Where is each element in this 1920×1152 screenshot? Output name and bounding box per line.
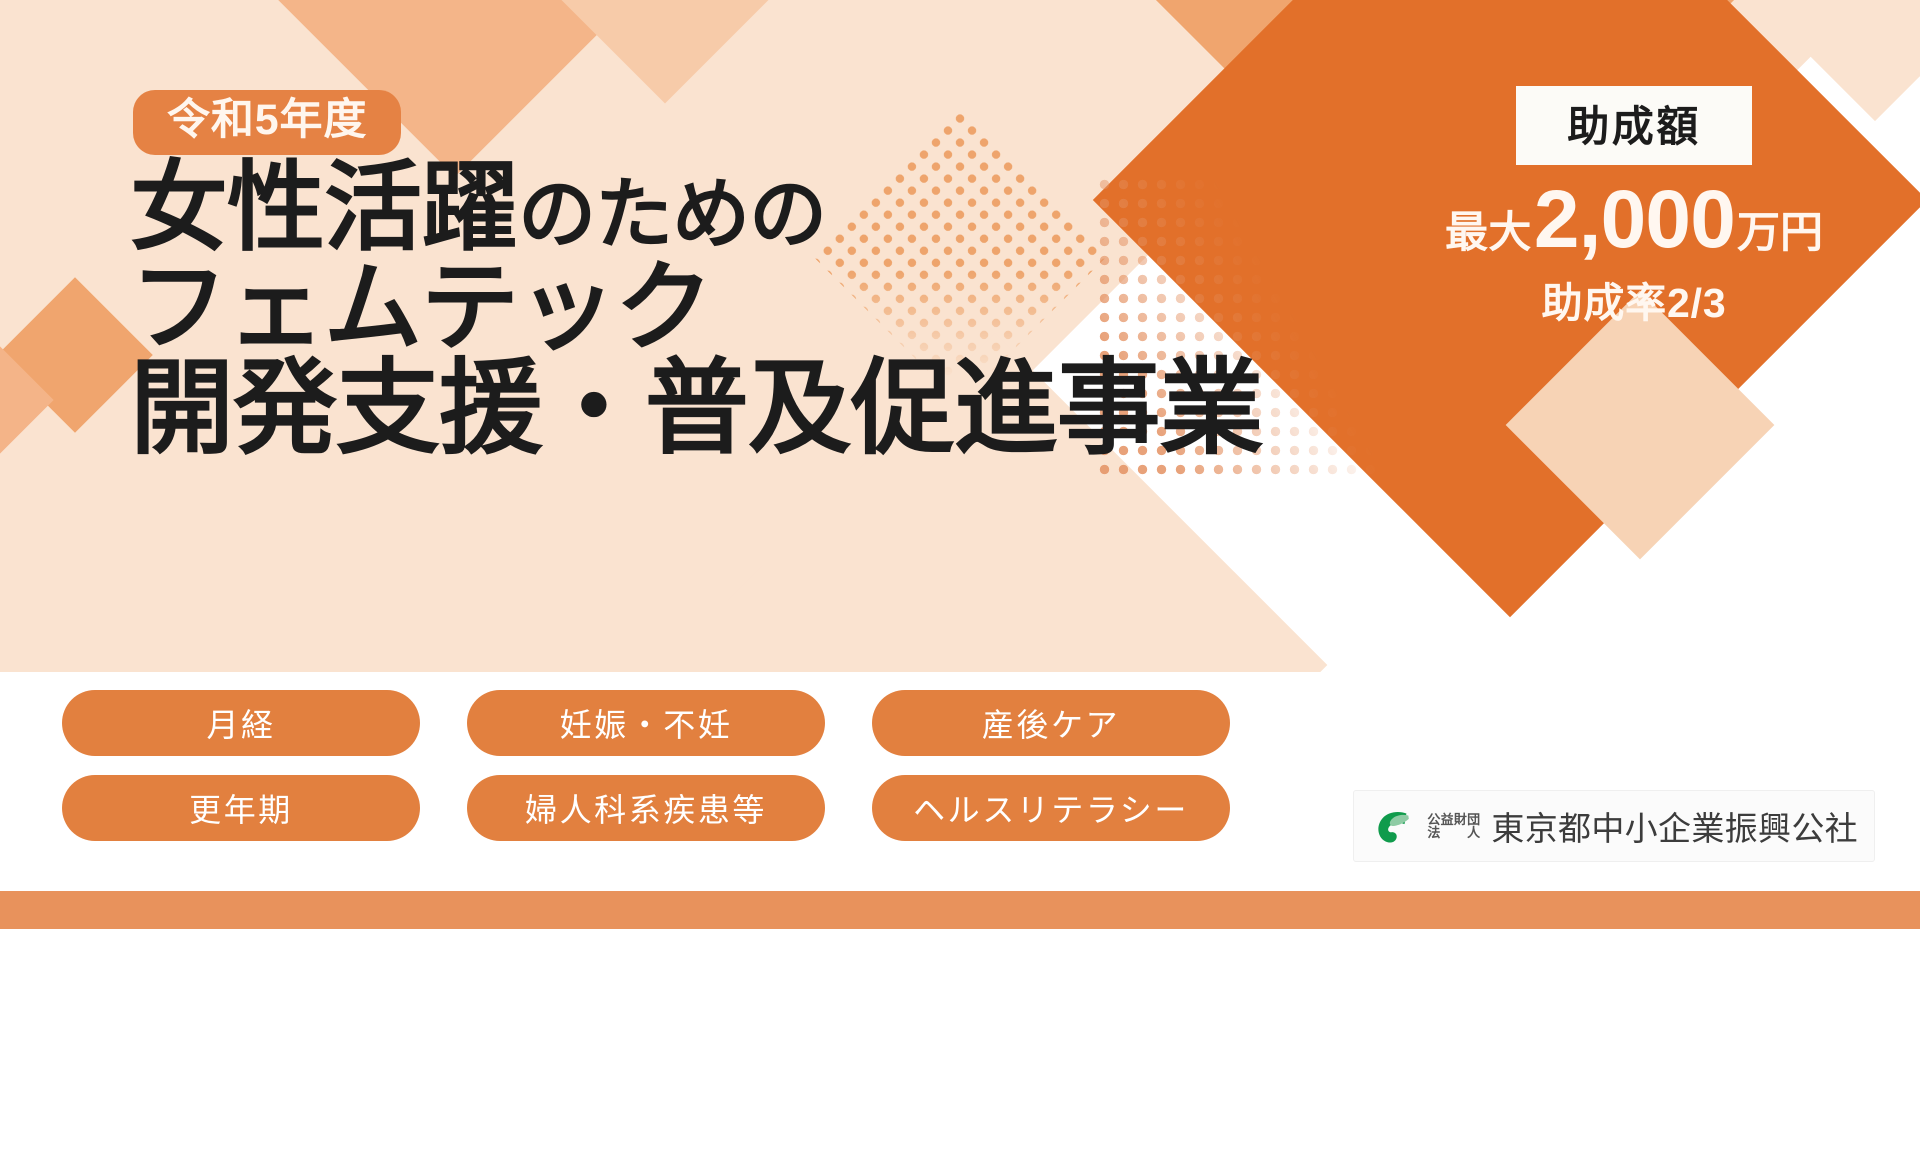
category-pill-pregnancy-infertility[interactable]: 妊娠・不妊	[467, 690, 825, 756]
category-pill-group: 月経 妊娠・不妊 産後ケア 更年期 婦人科系疾患等 ヘルスリテラシー	[62, 690, 1230, 841]
category-pill-gynecological[interactable]: 婦人科系疾患等	[467, 775, 825, 841]
subsidy-amount-prefix: 最大	[1445, 212, 1532, 255]
subsidy-block: 助成額 最大 2,000 万円 助成率2/3	[1444, 86, 1824, 329]
subsidy-amount-number: 2,000	[1532, 179, 1737, 261]
subsidy-label: 助成額	[1516, 86, 1752, 165]
headline-line1-sub: のための	[518, 170, 826, 258]
logo-organization-name: 東京都中小企業振興公社	[1491, 802, 1858, 850]
category-pill-postpartum-care[interactable]: 産後ケア	[872, 690, 1230, 756]
category-pill-menopause[interactable]: 更年期	[62, 775, 420, 841]
tokyo-smea-swoosh-icon	[1370, 803, 1416, 849]
subsidy-amount-unit: 万円	[1737, 212, 1823, 255]
section-divider	[0, 891, 1920, 929]
subsidy-rate: 助成率2/3	[1444, 269, 1824, 329]
headline-line2: フェムテック	[130, 260, 1263, 354]
category-pill-menstruation[interactable]: 月経	[62, 690, 420, 756]
logo-entity-type: 公益財団 法 人	[1427, 813, 1480, 840]
fiscal-year-badge: 令和5年度	[133, 90, 401, 155]
headline-line3: 開発支援・普及促進事業	[130, 360, 1263, 460]
category-pill-health-literacy[interactable]: ヘルスリテラシー	[872, 775, 1230, 841]
application-period-bar: 申請受付期間 令和5年 9/25 月 - 10/16 月 17:00まで	[0, 929, 1920, 1152]
organization-logo: 公益財団 法 人 東京都中小企業振興公社	[1353, 790, 1875, 862]
headline-line1-main: 女性活躍	[130, 152, 518, 262]
promotional-banner: 令和5年度 女性活躍のための フェムテック 開発支援・普及促進事業 助成額 最大…	[0, 0, 1920, 1152]
subsidy-amount: 最大 2,000 万円	[1444, 179, 1824, 261]
page-title: 女性活躍のための フェムテック 開発支援・普及促進事業	[130, 160, 1263, 460]
